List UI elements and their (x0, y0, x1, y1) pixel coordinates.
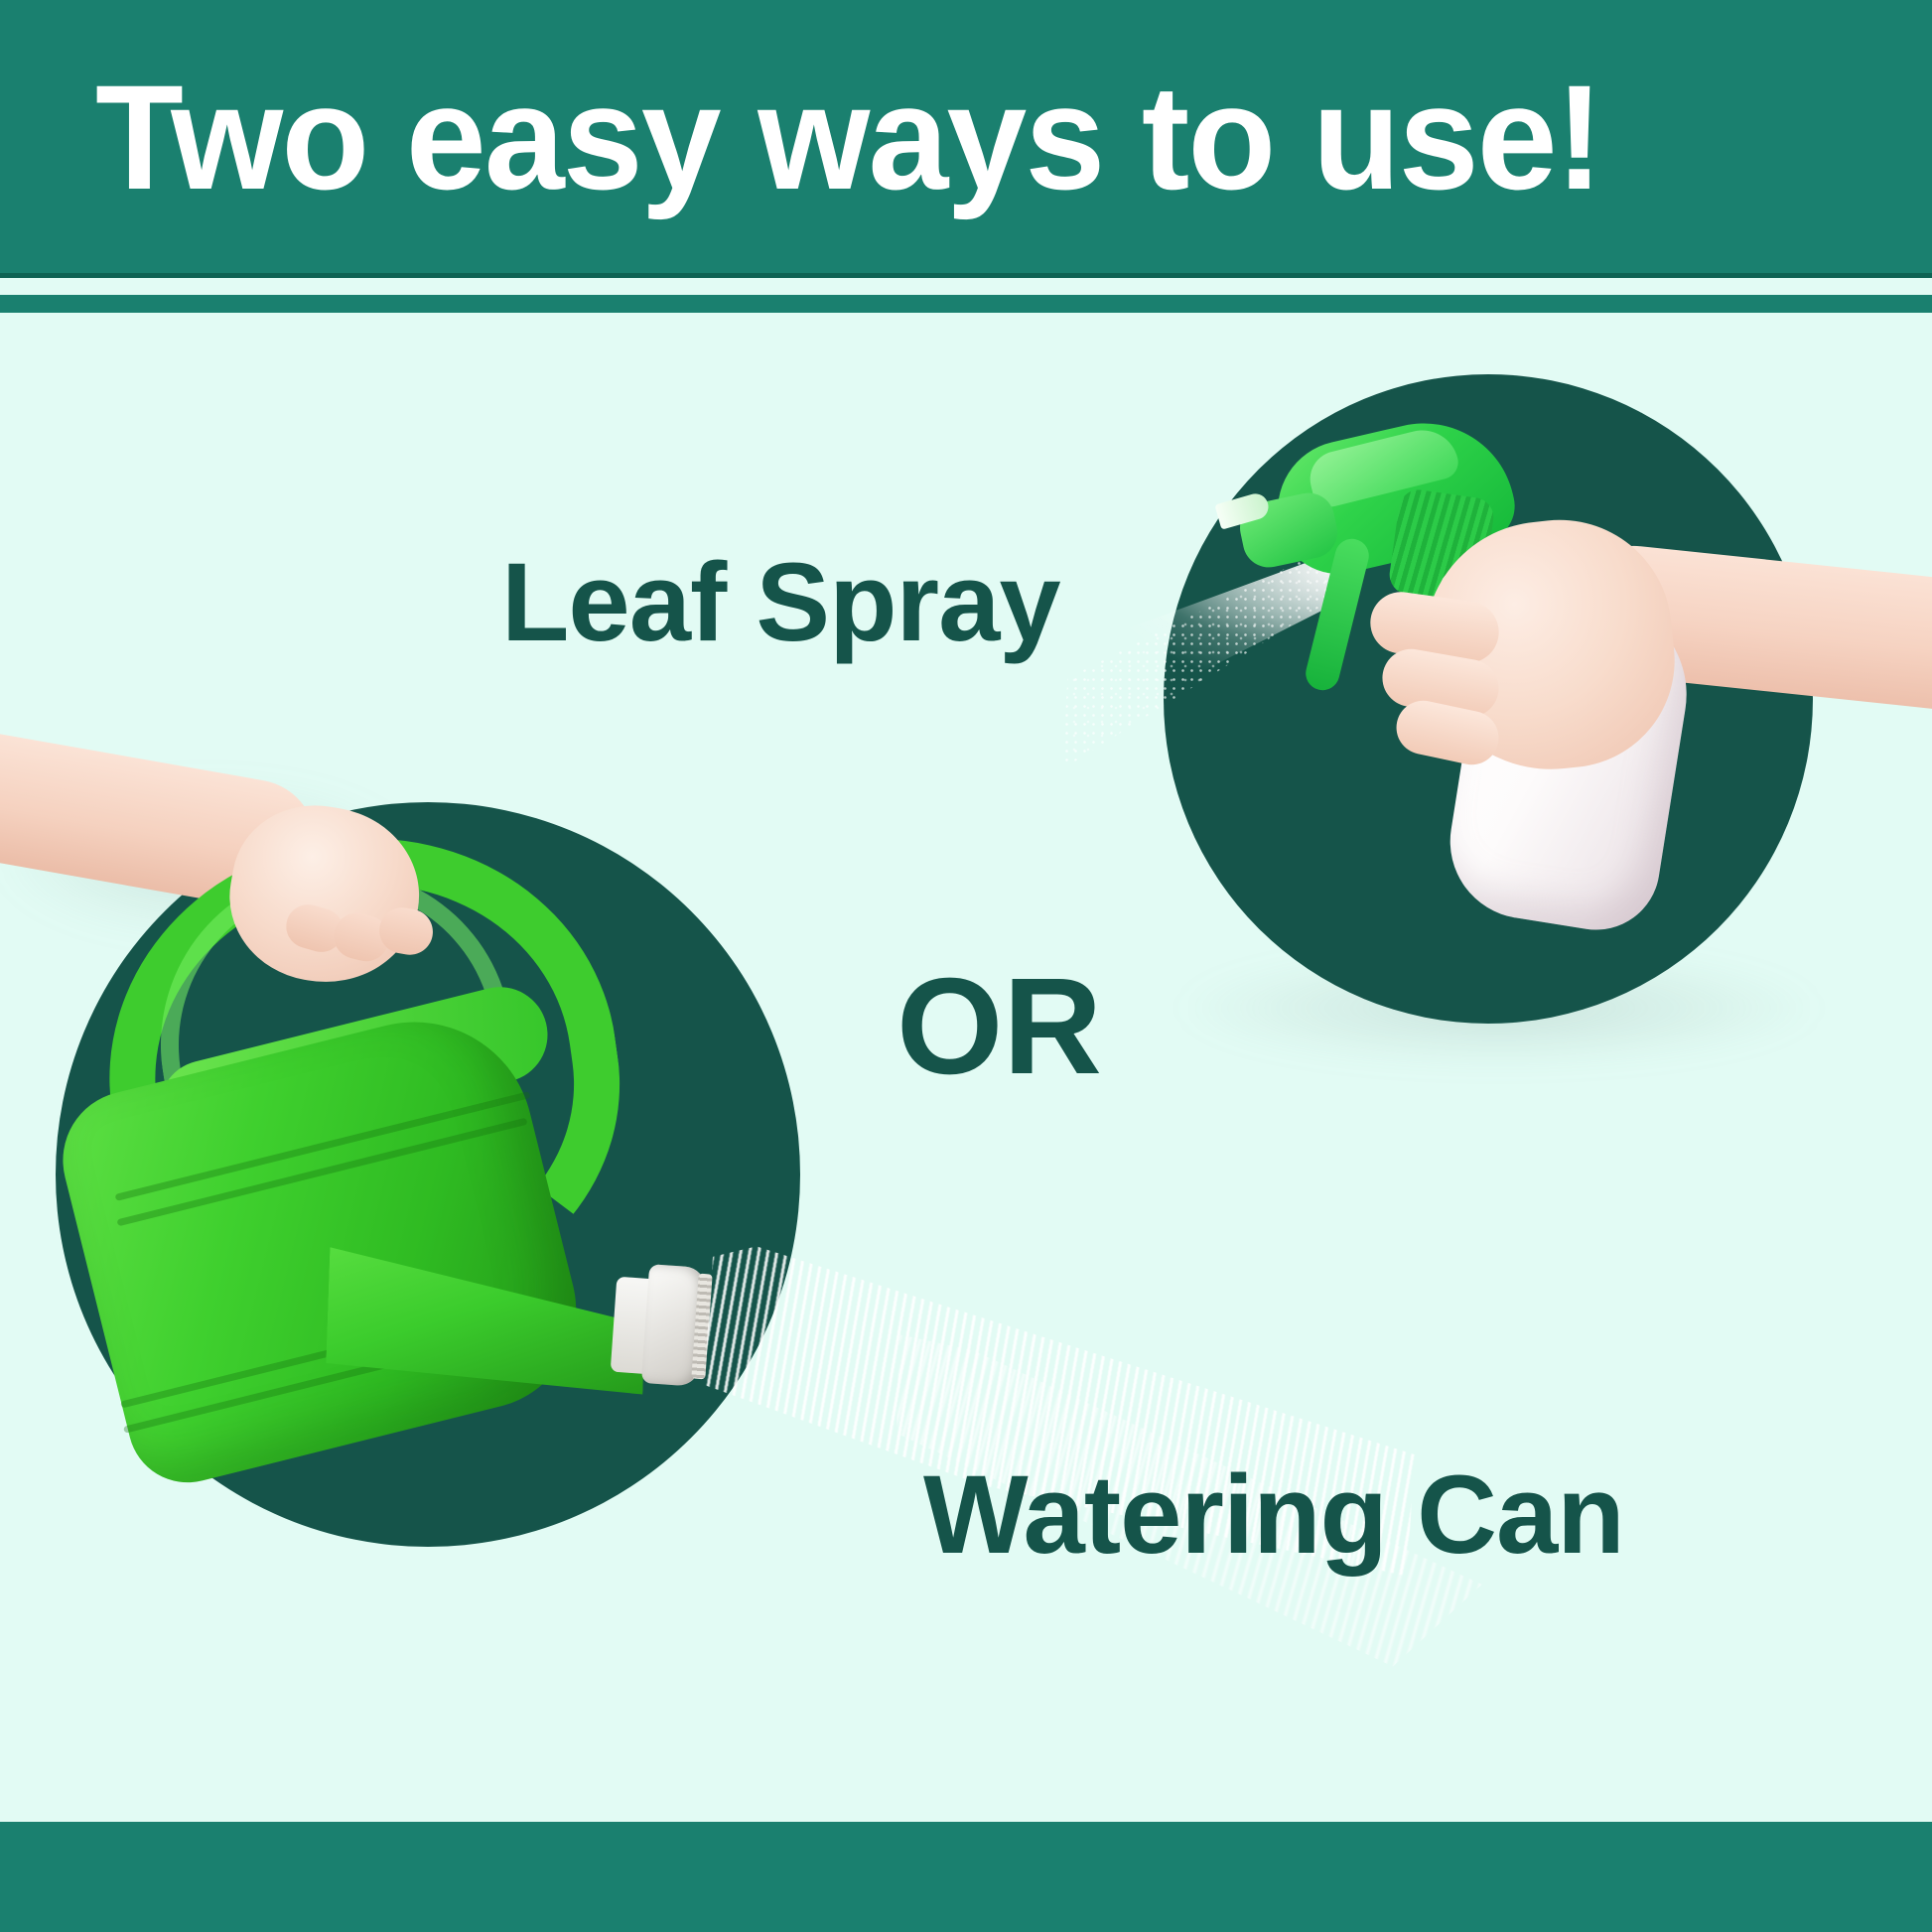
or-connector-label: OR (897, 958, 1102, 1095)
header-mint-stripe (0, 278, 1932, 295)
leaf-spray-label: Leaf Spray (501, 547, 1060, 658)
infographic-canvas: Two easy ways to use! Leaf Spray OR (0, 0, 1932, 1932)
footer-banner (0, 1822, 1932, 1932)
header-banner: Two easy ways to use! (0, 0, 1932, 273)
page-title: Two easy ways to use! (95, 63, 1601, 211)
content-area: Leaf Spray OR Watering Can (0, 313, 1932, 1822)
watering-can-label: Watering Can (923, 1459, 1624, 1571)
header-accent-band (0, 295, 1932, 313)
